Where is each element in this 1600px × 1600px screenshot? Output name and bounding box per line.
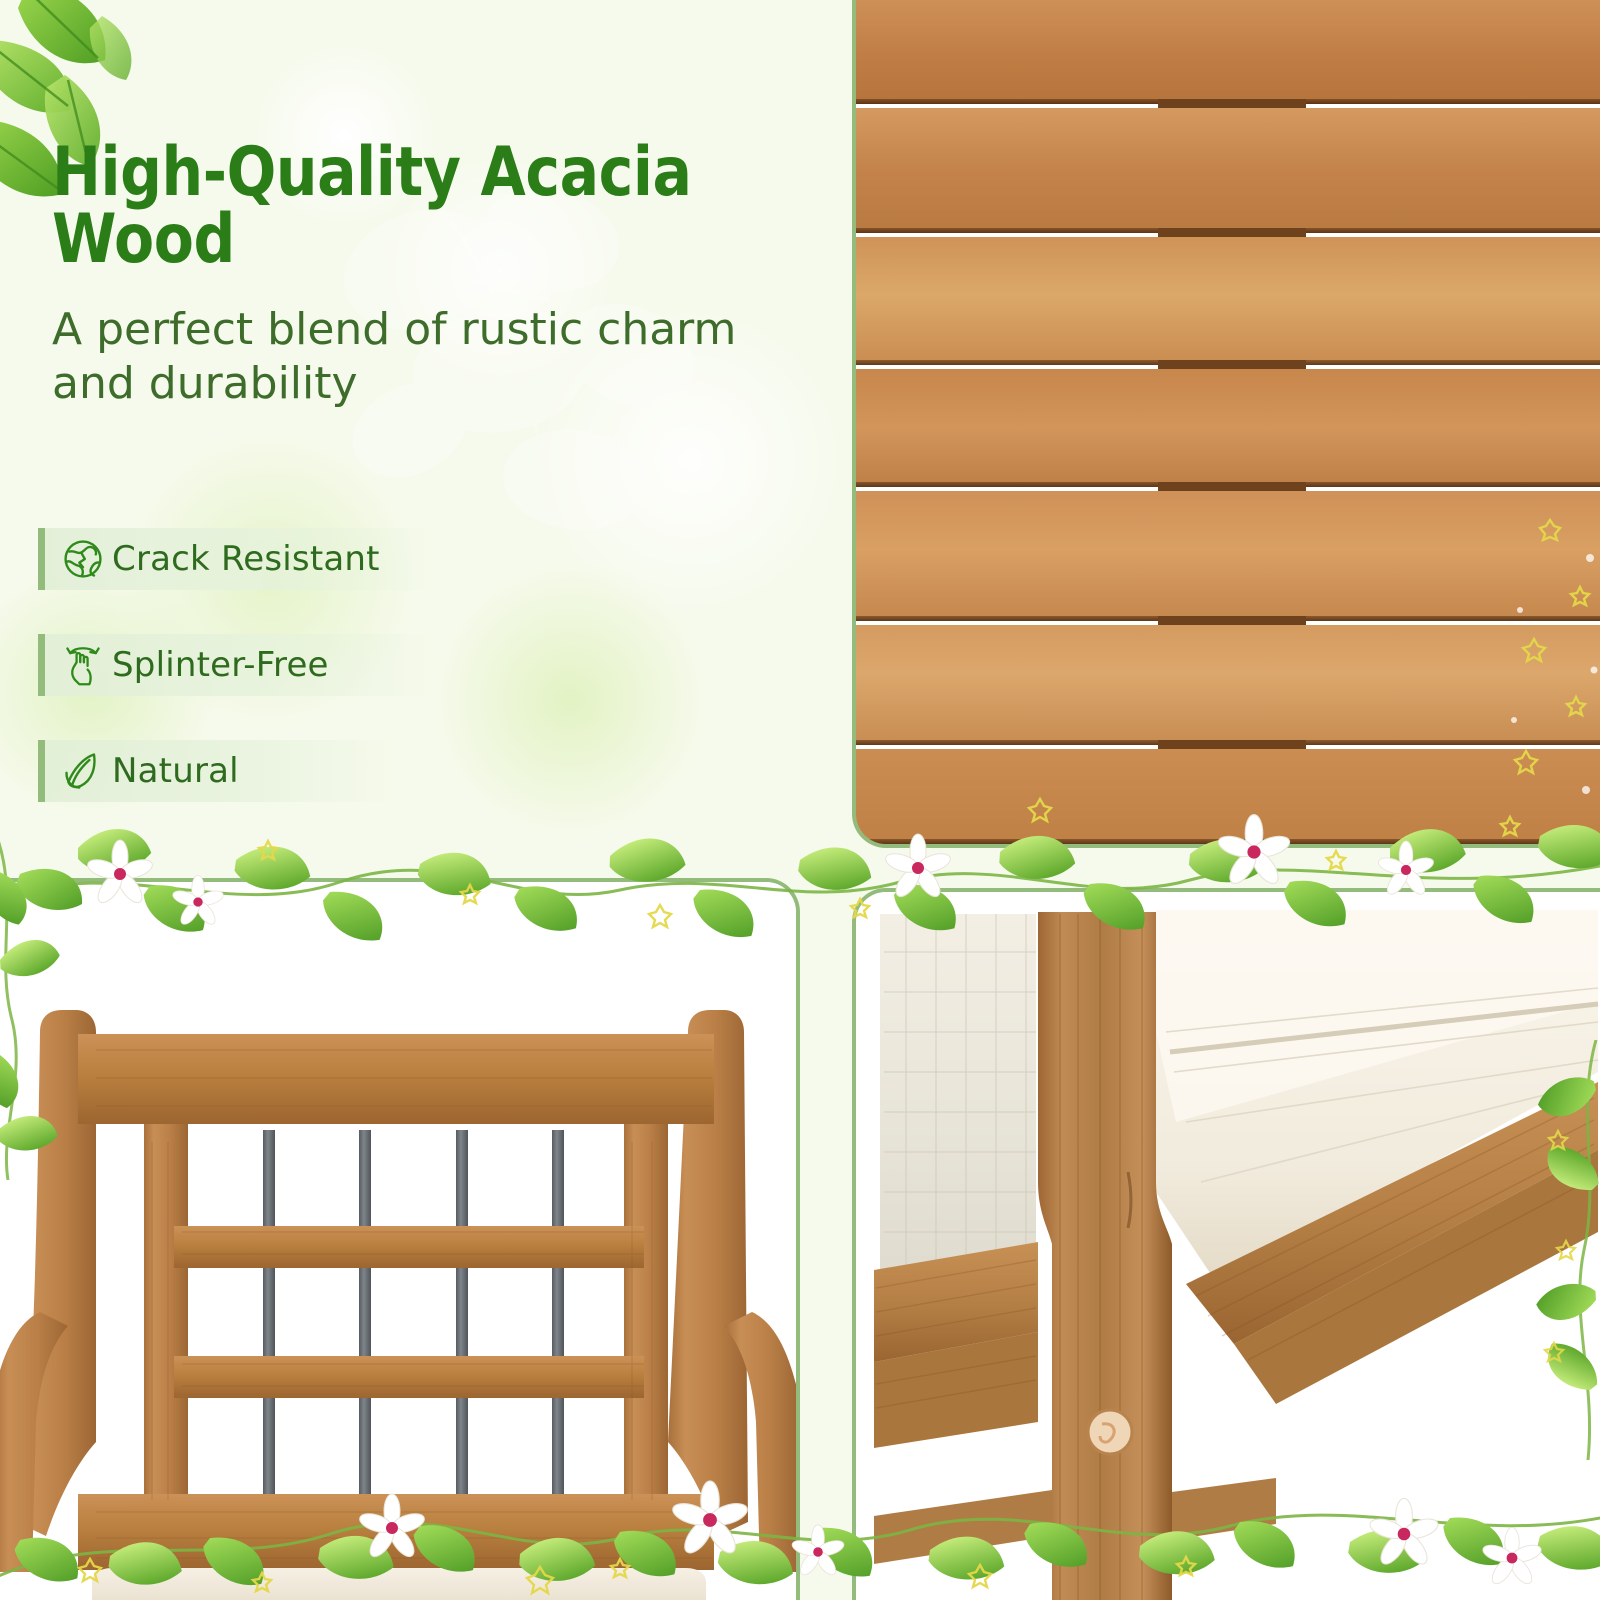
- bench-leg-joint-illustration: [856, 892, 1600, 1600]
- bench-backrest-photo: [0, 878, 800, 1600]
- page-subtitle: A perfect blend of rustic charm and dura…: [52, 303, 812, 410]
- hand-swipe-icon: [54, 642, 112, 688]
- page-title: High-Quality Acacia Wood: [52, 140, 731, 273]
- globe-crack-icon: [54, 537, 112, 581]
- feature-list: Crack Resistant Splinter-Free: [38, 528, 498, 846]
- bench-backrest-illustration: [0, 882, 796, 1600]
- feature-item-natural[interactable]: Natural: [38, 740, 400, 802]
- accent-bar: [38, 634, 45, 696]
- feature-item-crack-resistant[interactable]: Crack Resistant: [38, 528, 442, 590]
- bench-leg-joint-photo: [852, 888, 1600, 1600]
- headline-block: High-Quality Acacia Wood A perfect blend…: [52, 140, 842, 411]
- feature-label: Crack Resistant: [112, 539, 380, 579]
- accent-bar: [38, 740, 45, 802]
- feature-item-splinter-free[interactable]: Splinter-Free: [38, 634, 442, 696]
- feature-label: Natural: [112, 751, 239, 791]
- accent-bar: [38, 528, 45, 590]
- leaf-icon: [54, 749, 112, 793]
- feature-label: Splinter-Free: [112, 645, 329, 685]
- product-feature-banner: High-Quality Acacia Wood A perfect blend…: [0, 0, 1600, 1600]
- acacia-slat-tabletop-photo: [852, 0, 1600, 848]
